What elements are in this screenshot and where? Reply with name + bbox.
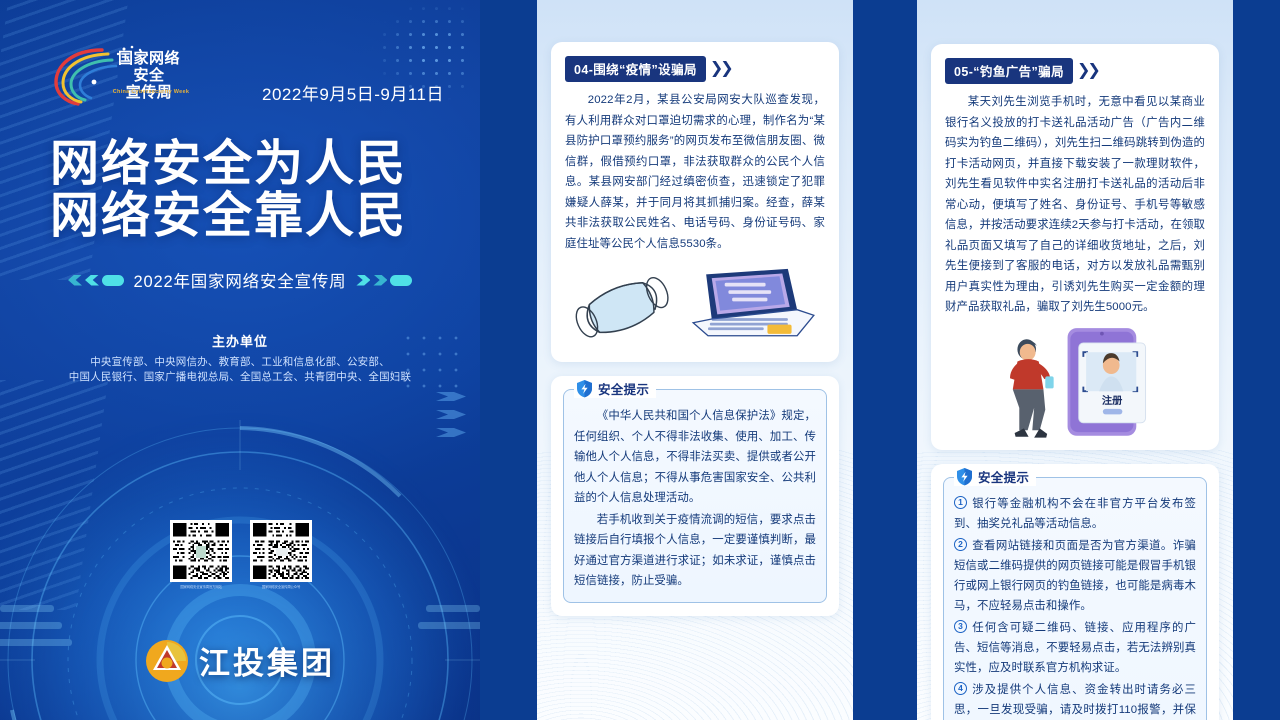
poster-subtitle-banner: 2022年国家网络安全宣传周 <box>50 266 430 294</box>
card-title-bar: 04-围绕“疫情”设骗局 ❯❯ <box>565 56 731 82</box>
tips-list-item: 1 银行等金融机构不会在非官方平台发布签到、抽奖兑礼品等活动信息。 <box>954 494 1196 534</box>
list-number-badge: 2 <box>954 538 967 551</box>
tips-paragraph: 《中华人民共和国个人信息保护法》规定，任何组织、个人不得非法收集、使用、加工、传… <box>574 406 816 509</box>
security-tips-card-right: 安全提示 1 银行等金融机构不会在非官方平台发布签到、抽奖兑礼品等活动信息。 2… <box>931 464 1219 720</box>
company-name: 江投集团 <box>199 638 335 683</box>
qr-code-item[interactable]: 国家网络安全宣传周公众号 <box>250 520 312 589</box>
chevron-right-icon: ❯❯ <box>1077 63 1098 79</box>
content-panel-middle: 04-围绕“疫情”设骗局 ❯❯ 2022年2月，某县公安局网安大队巡查发现，有人… <box>537 0 853 720</box>
content-panel-right: 05-“钓鱼广告”骗局 ❯❯ 某天刘先生浏览手机时，无意中看见以某商业银行名义投… <box>917 0 1233 720</box>
chevron-arrows-decor <box>436 392 466 446</box>
list-number-badge: 4 <box>954 682 967 695</box>
tips-frame: 安全提示 《中华人民共和国个人信息保护法》规定，任何组织、个人不得非法收集、使用… <box>563 389 827 603</box>
chevron-left-decor <box>68 275 124 286</box>
shield-bolt-icon <box>576 379 593 398</box>
event-date: 2022年9月5日-9月11日 <box>262 80 444 105</box>
qr-code-image <box>170 520 232 582</box>
card-title-bar: 05-“钓鱼广告”骗局 ❯❯ <box>945 58 1098 84</box>
mask-and-laptop-illustration <box>565 260 825 352</box>
qr-code-image <box>250 520 312 582</box>
list-number-badge: 3 <box>954 620 967 633</box>
tips-list-text: 查看网站链接和页面是否为官方渠道。诈骗短信或二维码提供的网页链接可能是假冒手机银… <box>954 540 1196 612</box>
tips-header: 安全提示 <box>574 379 656 398</box>
company-logo-icon <box>145 639 189 683</box>
tips-list-item: 3 任何含可疑二维码、链接、应用程序的广告、短信等消息，不要轻易点击，若无法辨别… <box>954 618 1196 678</box>
headline-line-1: 网络安全为人民 <box>50 138 450 190</box>
poster-subtitle: 2022年国家网络安全宣传周 <box>134 268 347 292</box>
card-body-text: 2022年2月，某县公安局网安大队巡查发现，有人利用群众对口罩迫切需求的心理，制… <box>565 90 825 254</box>
man-with-phone-registration-illustration: 注册 <box>945 322 1205 440</box>
card-title-label: 04-围绕“疫情”设骗局 <box>565 56 706 82</box>
organizer-title: 主办单位 <box>0 331 480 350</box>
headline-line-2: 网络安全靠人民 <box>50 190 450 242</box>
tips-list-text: 任何含可疑二维码、链接、应用程序的广告、短信等消息，不要轻易点击，若无法辨别真实… <box>954 622 1196 674</box>
card-title-label: 05-“钓鱼广告”骗局 <box>945 58 1073 84</box>
qr-code-caption: 国家网络安全宣传周公众号 <box>250 584 312 589</box>
tips-list-text: 银行等金融机构不会在非官方平台发布签到、抽奖兑礼品等活动信息。 <box>954 498 1196 530</box>
company-brand: 江投集团 <box>145 638 335 683</box>
story-card-05: 05-“钓鱼广告”骗局 ❯❯ 某天刘先生浏览手机时，无意中看见以某商业银行名义投… <box>931 44 1219 450</box>
tips-paragraph: 若手机收到关于疫情流调的短信，要求点击链接后自行填报个人信息，一定要谨慎判断，最… <box>574 510 816 592</box>
logo-subtext: China Cybersecurity Week <box>110 89 192 95</box>
tips-frame: 安全提示 1 银行等金融机构不会在非官方平台发布签到、抽奖兑礼品等活动信息。 2… <box>943 477 1207 720</box>
tips-list-text: 涉及提供个人信息、资金转出时请务必三思，一旦发现受骗，请及时拨打110报警，并保… <box>954 684 1196 720</box>
qr-code-caption: 国家网络安全宣传周官方网站 <box>170 584 232 589</box>
tips-title: 安全提示 <box>598 379 649 398</box>
poster-panel: 国家网络安全 宣传周 China Cybersecurity Week 2022… <box>0 0 480 720</box>
security-tips-card-middle: 安全提示 《中华人民共和国个人信息保护法》规定，任何组织、个人不得非法收集、使用… <box>551 376 839 616</box>
organizer-line-2: 中国人民银行、国家广播电视总局、全国总工会、共青团中央、全国妇联 <box>0 369 480 384</box>
poster-headline: 网络安全为人民 网络安全靠人民 <box>50 138 450 242</box>
list-number-badge: 1 <box>954 496 967 509</box>
diagonal-stripes-decor-lower <box>0 380 108 610</box>
cybersecurity-week-logo: 国家网络安全 宣传周 China Cybersecurity Week <box>50 42 190 110</box>
qr-code-item[interactable]: 国家网络安全宣传周官方网站 <box>170 520 232 589</box>
tips-header: 安全提示 <box>954 467 1036 486</box>
organizer-line-1: 中央宣传部、中央网信办、教育部、工业和信息化部、公安部、 <box>0 354 480 369</box>
chevron-right-decor <box>356 275 412 286</box>
card-body-text: 某天刘先生浏览手机时，无意中看见以某商业银行名义投放的打卡送礼品活动广告（广告内… <box>945 92 1205 318</box>
svg-text:注册: 注册 <box>1102 394 1122 407</box>
chevron-right-icon: ❯❯ <box>710 61 731 77</box>
tips-title: 安全提示 <box>978 467 1029 486</box>
tips-list-item: 2 查看网站链接和页面是否为官方渠道。诈骗短信或二维码提供的网页链接可能是假冒手… <box>954 536 1196 616</box>
qr-code-group: 国家网络安全宣传周官方网站 <box>170 520 312 589</box>
shield-bolt-icon <box>956 467 973 486</box>
tips-list-item: 4 涉及提供个人信息、资金转出时请务必三思，一旦发现受骗，请及时拨打110报警，… <box>954 680 1196 720</box>
story-card-04: 04-围绕“疫情”设骗局 ❯❯ 2022年2月，某县公安局网安大队巡查发现，有人… <box>551 42 839 362</box>
